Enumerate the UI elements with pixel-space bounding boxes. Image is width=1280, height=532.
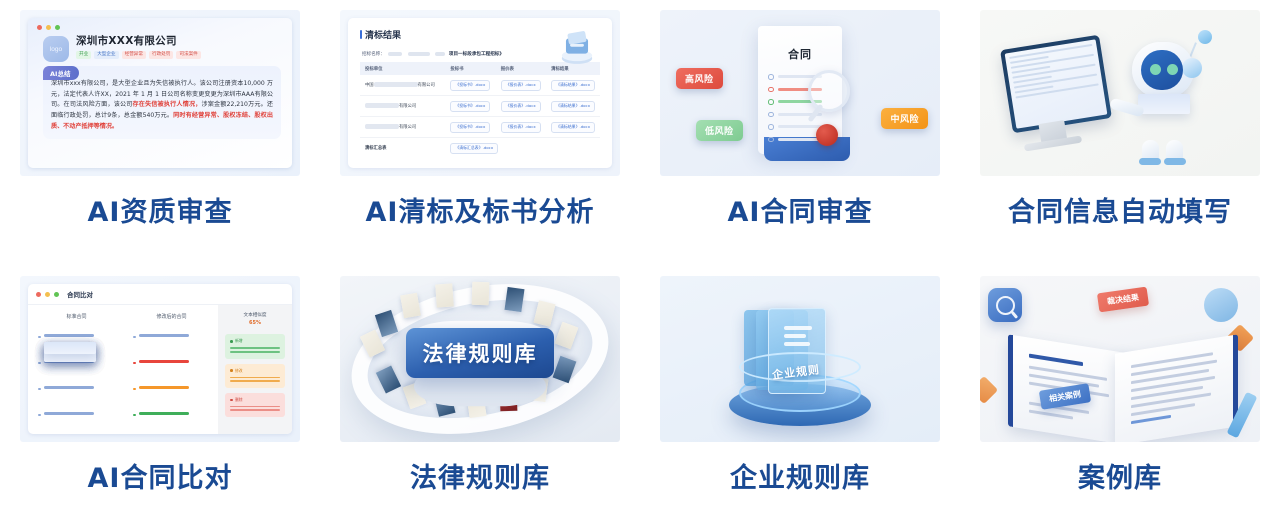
decor-circle xyxy=(1204,288,1238,322)
clause-bullet-icon xyxy=(133,362,136,365)
company-name: 深圳市XXX有限公司 xyxy=(76,36,201,48)
feature-caption: 企业规则库 xyxy=(730,456,870,495)
thumbnail-ai-contract-compare: 合同比对 标准合同 修改后的合同 xyxy=(20,276,300,442)
compare-column-right: 修改后的合同 xyxy=(123,305,218,434)
col-header-company: 投标单位 xyxy=(360,62,445,75)
magnifier-glyph-icon xyxy=(996,296,1015,315)
legend-line xyxy=(230,377,280,379)
risk-badge-low: 低风险 xyxy=(696,120,743,141)
file-chip[interactable]: 《清标结果》.docx xyxy=(551,122,595,133)
clause-bar xyxy=(778,138,822,141)
redacted-mask-icon xyxy=(374,82,418,87)
feature-card-enterprise-rules-library[interactable]: 企业规则 企业规则库 xyxy=(640,266,960,532)
clause-body xyxy=(44,342,96,354)
cell-company: 有限公司 xyxy=(360,117,445,138)
thumbnail-ai-qualification-review: logo 深圳市XXX有限公司 开业 大型企业 经营异常 行政处罚 司法案件 A… xyxy=(20,10,300,176)
maximize-dot-icon xyxy=(55,25,60,30)
feature-card-ai-qualification-review[interactable]: logo 深圳市XXX有限公司 开业 大型企业 经营异常 行政处罚 司法案件 A… xyxy=(0,0,320,266)
similarity-label: 文本相似度 xyxy=(244,313,267,318)
monitor-screen xyxy=(1005,39,1108,128)
robot-antenna-icon xyxy=(1198,30,1212,44)
clause-block-added xyxy=(133,406,210,424)
feature-card-legal-rules-library[interactable]: 法律规则库 法律规则库 xyxy=(320,266,640,532)
compare-window: 合同比对 标准合同 修改后的合同 xyxy=(28,284,292,434)
cell-company: 中国有限公司 xyxy=(360,75,445,96)
feature-card-contract-info-auto-fill[interactable]: 合同信息自动填写 xyxy=(960,0,1280,266)
column-header-left: 标准合同 xyxy=(38,313,115,320)
feature-caption: AI合同比对 xyxy=(88,456,233,495)
card-face xyxy=(400,293,421,319)
clause-block-modified xyxy=(133,380,210,398)
redacted-mask-icon xyxy=(365,124,399,129)
banner-text: 法律规则库 xyxy=(423,338,538,368)
legend-line xyxy=(230,351,280,353)
close-dot-icon xyxy=(36,292,41,297)
compare-column-left: 标准合同 xyxy=(28,305,123,434)
clause-bullet-icon xyxy=(38,362,41,365)
clause-title-bar xyxy=(44,412,94,415)
clause-title-bar xyxy=(139,334,189,337)
scanner-illustration-icon xyxy=(556,26,598,66)
feature-card-ai-bid-clearing-analysis[interactable]: 清标结果 招标名称： 项目一标段承包工程招标》 投标单位 投标书 报价表 清标结… xyxy=(320,0,640,266)
clause-bar xyxy=(778,125,822,128)
clause-row xyxy=(768,112,842,118)
col-header-bid: 投标书 xyxy=(445,62,495,75)
magnifier-icon xyxy=(808,70,850,112)
legend-label: 删除 xyxy=(235,397,243,403)
clause-block xyxy=(133,328,210,346)
file-chip[interactable]: 《清标汇总表》.docx xyxy=(450,143,498,154)
table-row: 有限公司 《投标书》.docx 《报价表》.docx 《清标结果》.docx xyxy=(360,117,600,138)
redacted-text-icon xyxy=(408,52,430,56)
legend-label: 修改 xyxy=(235,368,243,374)
similarity-header: 文本相似度 65% xyxy=(225,313,285,327)
col-header-price: 报价表 xyxy=(496,62,546,75)
legend-card-added: 新增 xyxy=(225,334,285,358)
company-tag: 行政处罚 xyxy=(149,51,173,59)
clause-bullet-icon xyxy=(768,137,774,143)
feature-caption: AI资质审查 xyxy=(88,190,233,229)
page-line xyxy=(1029,410,1073,419)
compare-window-titlebar: 合同比对 xyxy=(28,284,292,305)
legend-line xyxy=(230,347,280,349)
cell-result-file: 《清标结果》.docx xyxy=(546,75,600,96)
clause-title-bar xyxy=(44,334,94,337)
column-header-right: 修改后的合同 xyxy=(133,313,210,320)
feature-caption: 法律规则库 xyxy=(410,456,550,495)
compare-window-title: 合同比对 xyxy=(67,289,93,299)
robot-eye-right-icon xyxy=(1167,64,1178,75)
clause-block xyxy=(38,380,115,398)
close-dot-icon xyxy=(37,25,42,30)
ai-summary-text: 深圳市xxx有限公司，是大型企业且为失信被执行人。该公司注册资本10,000 万… xyxy=(51,79,273,132)
robot-foot-left xyxy=(1139,158,1161,165)
bid-table: 投标单位 投标书 报价表 清标结果 中国有限公司 《投标书》.docx 《报价表… xyxy=(360,62,600,158)
tag-verdict-result: 裁决结果 xyxy=(1097,287,1149,313)
card-face xyxy=(472,282,490,306)
cell-bid-file: 《投标书》.docx xyxy=(445,117,495,138)
legend-dot-icon xyxy=(230,399,233,402)
feature-grid: logo 深圳市XXX有限公司 开业 大型企业 经营异常 行政处罚 司法案件 A… xyxy=(0,0,1280,532)
card-face xyxy=(435,283,454,307)
folder-line xyxy=(784,342,810,346)
page-heading-line xyxy=(1029,354,1083,367)
legend-card-modified: 修改 xyxy=(225,364,285,388)
legend-title: 修改 xyxy=(230,368,280,374)
table-row: 有限公司 《投标书》.docx 《报价表》.docx 《清标结果》.docx xyxy=(360,96,600,117)
legend-title: 新增 xyxy=(230,338,280,344)
redacted-mask-icon xyxy=(365,103,399,108)
decor-diamond xyxy=(980,376,998,404)
company-tag: 开业 xyxy=(76,51,91,59)
search-icon xyxy=(988,288,1022,322)
cell-price-file: 《报价表》.docx xyxy=(496,75,546,96)
cell-price-file: 《报价表》.docx xyxy=(496,117,546,138)
title-accent-bar-icon xyxy=(360,30,362,39)
thumbnail-contract-info-auto-fill: 合同信息自动填写 xyxy=(980,10,1260,176)
legend-line xyxy=(230,380,280,382)
clause-bullet-icon xyxy=(768,112,774,118)
robot-illustration xyxy=(1114,28,1226,162)
clause-bullet-icon xyxy=(768,99,774,105)
feature-card-ai-contract-compare[interactable]: 合同比对 标准合同 修改后的合同 xyxy=(0,266,320,532)
file-chip[interactable]: 《投标书》.docx xyxy=(450,122,490,133)
page-line xyxy=(1029,366,1107,381)
robot-ear xyxy=(1182,58,1202,78)
ring-document-card xyxy=(504,287,524,312)
legend-label: 新增 xyxy=(235,338,243,344)
clause-bullet-icon xyxy=(133,414,136,417)
document-title-text: 清标结果 xyxy=(365,28,401,41)
folder-line xyxy=(784,334,806,338)
file-chip[interactable]: 《投标书》.docx xyxy=(450,80,490,91)
legend-line xyxy=(230,406,280,408)
thumbnail-enterprise-rules-library: 企业规则 xyxy=(660,276,940,442)
legend-dot-icon xyxy=(230,369,233,372)
risk-badge-mid: 中风险 xyxy=(881,108,928,129)
clause-block xyxy=(38,406,115,424)
file-chip[interactable]: 《清标结果》.docx xyxy=(551,101,595,112)
minimize-dot-icon xyxy=(45,292,50,297)
thumbnail-case-library: 裁决结果 相关案例 xyxy=(980,276,1260,442)
book-page-right xyxy=(1115,334,1238,442)
clause-bullet-icon xyxy=(38,336,41,339)
clause-block-modified xyxy=(133,354,210,372)
contract-sheet-title: 合同 xyxy=(758,46,842,62)
ai-summary-title: AI总结 xyxy=(43,66,79,80)
ring-document-card xyxy=(400,293,421,319)
thumbnail-legal-rules-library: 法律规则库 xyxy=(340,276,620,442)
robot-eye-left-icon xyxy=(1150,64,1161,75)
thumbnail-ai-contract-review: 合同 高风险 低风险 中风险 xyxy=(660,10,940,176)
similarity-sidebar: 文本相似度 65% 新增 修改 xyxy=(218,305,292,434)
feature-caption: 合同信息自动填写 xyxy=(1008,190,1232,229)
clause-title-bar xyxy=(139,412,189,415)
card-face xyxy=(504,287,524,312)
file-chip[interactable]: 《投标书》.docx xyxy=(450,101,490,112)
cell-bid-file: 《投标书》.docx xyxy=(445,96,495,117)
clause-bullet-icon xyxy=(38,414,41,417)
ring-document-card xyxy=(435,283,454,307)
clause-title-bar xyxy=(139,360,189,363)
compare-body: 标准合同 修改后的合同 文 xyxy=(28,305,292,434)
company-tag: 大型企业 xyxy=(94,51,118,59)
red-seal-icon xyxy=(816,124,838,146)
legal-rules-banner: 法律规则库 xyxy=(406,328,554,378)
summary-file-cell: 《清标汇总表》.docx xyxy=(445,138,600,159)
feature-caption: 案例库 xyxy=(1078,456,1162,495)
file-chip[interactable]: 《清标结果》.docx xyxy=(551,80,595,91)
clause-title-bar xyxy=(139,386,189,389)
cell-result-file: 《清标结果》.docx xyxy=(546,117,600,138)
company-logo: logo xyxy=(43,36,69,62)
clause-bullet-icon xyxy=(133,336,136,339)
company-tag: 司法案件 xyxy=(176,51,200,59)
feature-caption: AI合同审查 xyxy=(728,190,873,229)
company-tag-list: 开业 大型企业 经营异常 行政处罚 司法案件 xyxy=(76,51,201,59)
cell-price-file: 《报价表》.docx xyxy=(496,96,546,117)
similarity-value: 65% xyxy=(225,320,285,328)
clause-bullet-icon xyxy=(768,124,774,130)
cell-result-file: 《清标结果》.docx xyxy=(546,96,600,117)
table-summary-row: 清标汇总表 《清标汇总表》.docx xyxy=(360,138,600,159)
maximize-dot-icon xyxy=(54,292,59,297)
summary-highlight-1: 存在失信被执行人情况， xyxy=(133,101,202,108)
monitor-illustration xyxy=(1000,35,1112,134)
robot-foot-right xyxy=(1164,158,1186,165)
minimize-dot-icon xyxy=(46,25,51,30)
redacted-text-icon xyxy=(435,52,445,56)
company-header: logo 深圳市XXX有限公司 开业 大型企业 经营异常 行政处罚 司法案件 xyxy=(43,36,283,62)
clause-bullet-icon xyxy=(38,388,41,391)
file-chip[interactable]: 《报价表》.docx xyxy=(501,122,541,133)
clause-title-bar xyxy=(44,386,94,389)
thumbnail-ai-bid-clearing-analysis: 清标结果 招标名称： 项目一标段承包工程招标》 投标单位 投标书 报价表 清标结… xyxy=(340,10,620,176)
folder-text-lines xyxy=(784,326,812,350)
risk-badge-high: 高风险 xyxy=(676,68,723,89)
robot-body xyxy=(1138,94,1190,114)
subtitle-prefix: 招标名称： xyxy=(362,52,385,57)
summary-label: 清标汇总表 xyxy=(360,138,445,159)
page-line xyxy=(1131,352,1213,367)
page-line xyxy=(1131,415,1171,424)
mock-window: logo 深圳市XXX有限公司 开业 大型企业 经营异常 行政处罚 司法案件 A… xyxy=(28,18,292,168)
table-row: 中国有限公司 《投标书》.docx 《报价表》.docx 《清标结果》.docx xyxy=(360,75,600,96)
folder-line xyxy=(784,326,812,330)
legend-card-deleted: 删除 xyxy=(225,393,285,417)
file-chip[interactable]: 《报价表》.docx xyxy=(501,80,541,91)
ring-document-card xyxy=(472,282,490,306)
clause-bullet-icon xyxy=(133,388,136,391)
redacted-text-icon xyxy=(388,52,402,56)
clause-bullet-icon xyxy=(768,74,774,80)
bid-result-document: 清标结果 招标名称： 项目一标段承包工程招标》 投标单位 投标书 报价表 清标结… xyxy=(348,18,612,168)
ai-summary-panel: AI总结 深圳市xxx有限公司，是大型企业且为失信被执行人。该公司注册资本10,… xyxy=(43,66,281,139)
cell-bid-file: 《投标书》.docx xyxy=(445,75,495,96)
file-chip[interactable]: 《报价表》.docx xyxy=(501,101,541,112)
window-traffic-lights xyxy=(37,25,283,30)
legend-line xyxy=(230,409,280,411)
clause-bullet-icon xyxy=(768,87,774,93)
legend-dot-icon xyxy=(230,340,233,343)
feature-caption: AI清标及标书分析 xyxy=(366,190,595,229)
open-book-illustration xyxy=(1008,324,1238,436)
legend-title: 删除 xyxy=(230,397,280,403)
cell-company: 有限公司 xyxy=(360,96,445,117)
feature-card-case-library[interactable]: 裁决结果 相关案例 案例库 xyxy=(960,266,1280,532)
feature-card-ai-contract-review[interactable]: 合同 高风险 低风险 中风险 AI合同审查 xyxy=(640,0,960,266)
subtitle-strong: 项目一标段承包工程招标》 xyxy=(449,52,504,57)
company-tag: 经营异常 xyxy=(122,51,146,59)
